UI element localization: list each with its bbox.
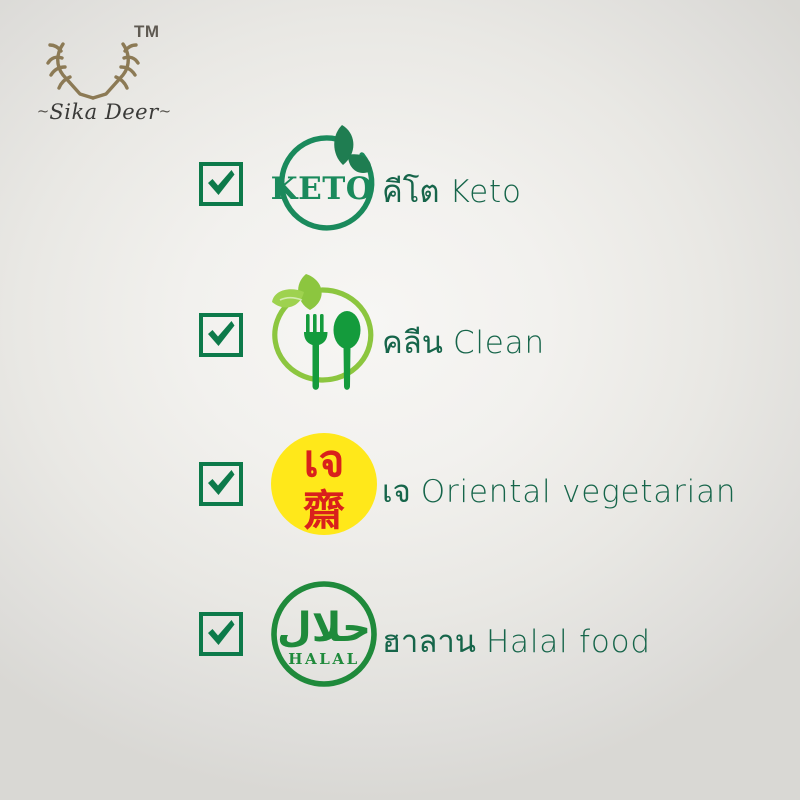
label-keto-english: Keto [450, 174, 522, 210]
checkbox-halal[interactable] [199, 612, 243, 656]
jay-badge-chinese: 齋 [303, 486, 345, 535]
wordmark-dash-left: ~ [37, 102, 50, 120]
checkbox-jay[interactable] [199, 462, 243, 506]
label-halal-english: Halal food [486, 624, 651, 660]
checkbox-clean[interactable] [199, 313, 243, 357]
deer-antlers-icon [32, 38, 154, 100]
keto-badge-text: KETO [271, 171, 374, 207]
jay-vegetarian-badge: เจ 齋 [258, 419, 390, 549]
label-jay: เจOriental vegetarian [382, 466, 736, 516]
jay-badge-thai: เจ [304, 436, 345, 487]
checkbox-keto[interactable] [199, 162, 243, 206]
label-halal: ฮาลานHalal food [382, 616, 651, 666]
halal-badge: حلال HALAL [258, 569, 390, 699]
label-keto: คีโตKeto [382, 166, 522, 216]
label-jay-english: Oriental vegetarian [421, 474, 737, 510]
label-clean-english: Clean [453, 325, 545, 361]
label-clean: คลีนClean [382, 317, 545, 367]
list-item[interactable]: คลีนClean [0, 270, 800, 400]
label-jay-thai: เจ [382, 474, 411, 510]
wordmark-dash-right: ~ [159, 102, 172, 120]
keto-badge: KETO [258, 119, 390, 249]
brand-logo: TM [14, 14, 194, 134]
clean-fork-spoon-badge [258, 270, 390, 400]
halal-badge-label: HALAL [288, 650, 360, 668]
label-clean-thai: คลีน [382, 325, 443, 361]
label-halal-thai: ฮาลาน [382, 624, 476, 660]
halal-badge-arabic: حلال [277, 605, 371, 651]
list-item[interactable]: KETO คีโตKeto [0, 119, 800, 249]
label-keto-thai: คีโต [382, 174, 440, 210]
list-item[interactable]: حلال HALAL ฮาลานHalal food [0, 569, 800, 699]
certification-list-graphic: TM [0, 0, 800, 800]
list-item[interactable]: เจ 齋 เจOriental vegetarian [0, 419, 800, 549]
